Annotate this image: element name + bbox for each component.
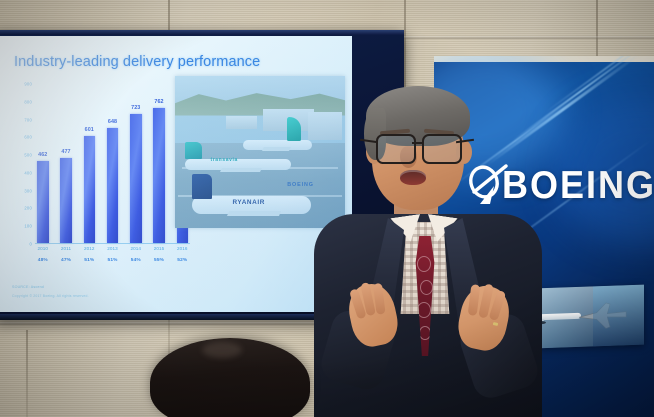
chart-x-axis-line (35, 243, 190, 244)
chart-bar (107, 128, 119, 243)
presenter-ring (493, 322, 499, 326)
chart-share-label: 48% (37, 258, 49, 263)
chart-y-tick: 800 (24, 99, 32, 104)
chart-bar-value-label: 462 (38, 152, 47, 158)
chart-y-axis: 9008007006005004003002001000 (10, 84, 34, 244)
chart-x-year: 2016 (177, 246, 189, 251)
chart-x-year: 2012 (84, 246, 96, 251)
chart-bars: 462477601648723762748 (37, 84, 188, 243)
chart-bar (84, 136, 96, 243)
chart-x-year: 2015 (153, 246, 165, 251)
presenter (320, 78, 535, 417)
chart-y-tick: 500 (24, 153, 32, 158)
chart-x-label-column: 201652% (177, 246, 189, 263)
chart-x-year: 2013 (107, 246, 119, 251)
chart-x-label-column: 201351% (107, 246, 119, 263)
chart-bar-value-label: 723 (131, 105, 140, 111)
eyeglasses-left-lens-icon (376, 134, 416, 164)
slide-copyright-note: Copyright © 2017 Boeing. All rights rese… (12, 294, 89, 298)
chart-y-tick: 400 (24, 170, 32, 175)
chart-bar-column: 648 (107, 84, 119, 243)
chart-bar-value-label: 762 (154, 99, 163, 105)
display-bezel-top (0, 30, 404, 35)
chart-y-tick: 700 (24, 117, 32, 122)
chart-x-label-column: 201048% (37, 246, 49, 263)
eyeglasses-bridge-icon (412, 142, 423, 144)
presentation-slide: Industry-leading delivery performance 90… (0, 36, 352, 312)
chart-share-label: 54% (130, 258, 142, 263)
chart-x-label-column: 201555% (153, 246, 165, 263)
chart-bar (37, 161, 49, 243)
chart-y-tick: 0 (29, 242, 32, 247)
chart-x-label-column: 201147% (60, 246, 72, 263)
slide-source-note: SOURCE: Ascend (12, 285, 44, 289)
wall-seam (26, 330, 28, 417)
chart-x-year: 2011 (60, 246, 72, 251)
chart-share-label: 51% (84, 258, 96, 263)
chart-x-labels: 201048%201147%201251%201351%201454%20155… (35, 246, 190, 263)
chart-share-label: 52% (177, 258, 189, 263)
chart-y-tick: 100 (24, 224, 32, 229)
eyeglasses-right-lens-icon (422, 134, 462, 164)
chart-x-label-column: 201454% (130, 246, 142, 263)
chart-bar-column: 601 (84, 84, 96, 243)
presenter-mouth (400, 170, 426, 185)
chart-plot-area: 462477601648723762748 (35, 84, 190, 244)
chart-y-tick: 300 (24, 188, 32, 193)
chart-bar-column: 477 (60, 84, 72, 243)
chart-y-tick: 600 (24, 135, 32, 140)
chart-share-label: 51% (107, 258, 119, 263)
chart-bar-column: 723 (130, 84, 142, 243)
chart-bar-column: 462 (37, 84, 49, 243)
chart-x-year: 2010 (37, 246, 49, 251)
chart-x-label-column: 201251% (84, 246, 96, 263)
slide-title: Industry-leading delivery performance (14, 54, 260, 70)
chart-share-label: 47% (60, 258, 72, 263)
chart-bar (130, 114, 142, 243)
chart-bar-value-label: 648 (108, 119, 117, 125)
chart-bar-column: 762 (153, 84, 165, 243)
delivery-bar-chart: 9008007006005004003002001000 46247760164… (10, 84, 190, 276)
chart-bar (60, 158, 72, 243)
hair-highlight (202, 342, 242, 358)
chart-y-tick: 900 (24, 82, 32, 87)
chart-share-label: 55% (153, 258, 165, 263)
chart-bar-value-label: 477 (61, 149, 70, 155)
chart-x-year: 2014 (130, 246, 142, 251)
presentation-photo-scene: Industry-leading delivery performance 90… (0, 0, 654, 417)
chart-y-tick: 200 (24, 206, 32, 211)
chart-bar-value-label: 601 (85, 127, 94, 133)
chart-bar (153, 108, 165, 243)
